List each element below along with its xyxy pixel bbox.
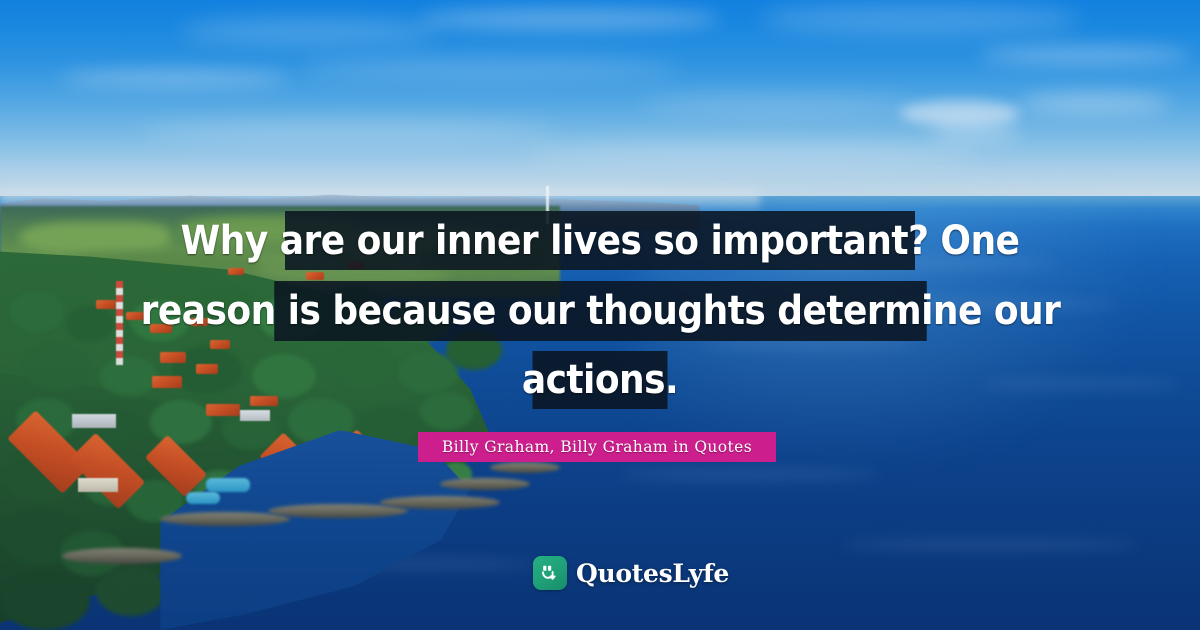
villa-roof (206, 404, 240, 416)
building-roof (150, 324, 172, 333)
building-roof (152, 376, 182, 388)
building-roof (348, 262, 364, 269)
field-patch (20, 222, 170, 254)
ocean-ripple (700, 340, 920, 348)
building-roof (210, 340, 230, 349)
tree-canopy (258, 296, 322, 340)
cloud-icon (60, 70, 290, 86)
tree-canopy (252, 354, 316, 398)
shoreline-rocks (62, 548, 182, 564)
swimming-pool (186, 492, 220, 504)
building-roof (228, 268, 244, 275)
field-patch (420, 244, 550, 272)
cloud-icon (300, 58, 680, 78)
horizon-mast (546, 186, 549, 224)
shoreline-rocks (160, 512, 290, 526)
tree-canopy (10, 292, 64, 332)
tree-canopy (130, 300, 190, 342)
cloud-icon (180, 18, 440, 44)
swimming-pool (206, 478, 250, 492)
tree-canopy (390, 300, 452, 342)
tree-canopy (100, 356, 158, 396)
ocean-ripple (860, 300, 1120, 309)
building-wall (240, 410, 270, 421)
villa-roof (250, 396, 278, 406)
tree-canopy (66, 306, 114, 342)
tree-canopy (420, 392, 474, 430)
shoreline-rocks (268, 504, 408, 518)
building-wall (72, 414, 116, 428)
building-roof (126, 312, 144, 320)
communications-tower (116, 281, 123, 365)
tree-canopy (150, 400, 212, 444)
shoreline-rocks (490, 462, 560, 473)
logo-wordmark: QuotesLyfe (576, 561, 729, 586)
shoreline-rocks (380, 496, 500, 509)
ocean-ripple (980, 380, 1180, 388)
cloud-icon (1020, 92, 1170, 114)
building-roof (190, 318, 208, 326)
cloud-icon (640, 96, 920, 114)
cloud-icon (420, 8, 720, 30)
building-roof (96, 300, 116, 309)
building-roof (160, 352, 186, 363)
ocean-ripple (760, 258, 1060, 268)
quoteslyfe-logo[interactable]: QuotesLyfe (533, 556, 729, 590)
attribution-banner[interactable]: Billy Graham, Billy Graham in Quotes (418, 432, 776, 462)
shoreline-rocks (440, 478, 530, 490)
ocean-ripple (620, 470, 880, 479)
villa-wall (78, 478, 118, 492)
quote-image-canvas: Why are our inner lives so important? On… (0, 0, 1200, 630)
building-roof (306, 272, 324, 280)
tree-canopy (96, 566, 166, 616)
tree-canopy (0, 572, 90, 630)
cloud-icon (930, 122, 1020, 142)
cloud-icon (140, 120, 560, 144)
ocean-ripple (840, 540, 1140, 549)
background-photo (0, 0, 1200, 630)
cloud-icon (980, 46, 1190, 64)
tree-canopy (446, 330, 502, 370)
cloud-icon (760, 4, 1080, 34)
quotation-mark-icon (533, 556, 567, 590)
tree-canopy (24, 344, 90, 390)
tree-canopy (326, 342, 394, 388)
tree-canopy (326, 286, 384, 326)
cloud-icon (520, 140, 980, 166)
building-roof (196, 364, 218, 374)
